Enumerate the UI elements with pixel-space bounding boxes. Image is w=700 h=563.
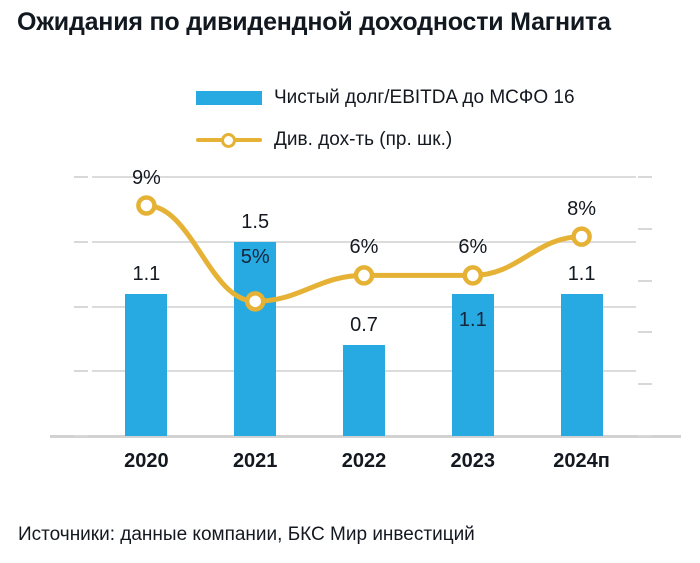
legend-item-label: Чистый долг/EBITDA до МСФО 16	[274, 87, 575, 109]
chart-legend: Чистый долг/EBITDA до МСФО 16 Див. дох-т…	[196, 82, 656, 154]
gridline	[92, 306, 636, 308]
chart-page: Ожидания по дивидендной доходности Магни…	[0, 0, 700, 563]
y-axis-right-tick	[638, 435, 652, 437]
x-axis-label-2024п: 2024п	[532, 450, 632, 473]
line-value-label: 9%	[106, 168, 186, 188]
x-axis-label-2023: 2023	[423, 450, 523, 473]
bar-value-label: 1.5	[215, 212, 295, 232]
bar-2022[interactable]	[343, 345, 385, 436]
y-axis-left-tick	[74, 306, 88, 308]
x-axis-label-2021: 2021	[205, 450, 305, 473]
legend-line-marker-swatch-icon	[196, 133, 262, 147]
bar-value-label: 1.1	[433, 310, 513, 330]
bar-2021[interactable]	[234, 242, 276, 436]
y-axis-right-tick	[638, 176, 652, 178]
plot-area: 0.00.51.01.52.00%2%4%6%8%10%1.11.50.71.1…	[92, 177, 636, 436]
bar-value-label: 1.1	[542, 264, 622, 284]
x-axis-label-2020: 2020	[96, 450, 196, 473]
y-axis-right-tick	[638, 383, 652, 385]
line-value-label: 6%	[324, 237, 404, 257]
source-note: Источники: данные компании, БКС Мир инве…	[18, 524, 475, 546]
y-axis-right-tick	[638, 228, 652, 230]
legend-bar-swatch-icon	[196, 91, 262, 105]
legend-item-net-debt-ebitda[interactable]: Чистый долг/EBITDA до МСФО 16	[196, 84, 575, 112]
bar-value-label: 0.7	[324, 315, 404, 335]
y-axis-right-tick	[638, 280, 652, 282]
page-title: Ожидания по дивидендной доходности Магни…	[17, 6, 657, 39]
y-axis-left-tick	[74, 370, 88, 372]
y-axis-left-tick	[74, 176, 88, 178]
y-axis-right-tick	[638, 331, 652, 333]
x-axis-labels: 20202021202220232024п	[92, 450, 636, 480]
bar-value-label: 1.1	[106, 264, 186, 284]
line-marker-2022[interactable]	[356, 267, 372, 283]
legend-item-label: Див. дох-ть (пр. шк.)	[274, 129, 452, 151]
legend-item-dividend-yield[interactable]: Див. дох-ть (пр. шк.)	[196, 126, 452, 154]
y-axis-left-tick	[74, 435, 88, 437]
bar-2020[interactable]	[125, 294, 167, 436]
line-value-label: 8%	[542, 199, 622, 219]
line-value-label: 6%	[433, 237, 513, 257]
line-marker-2023[interactable]	[465, 267, 481, 283]
y-axis-left-tick	[74, 241, 88, 243]
line-marker-2020[interactable]	[138, 197, 154, 213]
bar-2024п[interactable]	[561, 294, 603, 436]
x-axis-label-2022: 2022	[314, 450, 414, 473]
line-value-label: 5%	[215, 247, 295, 267]
